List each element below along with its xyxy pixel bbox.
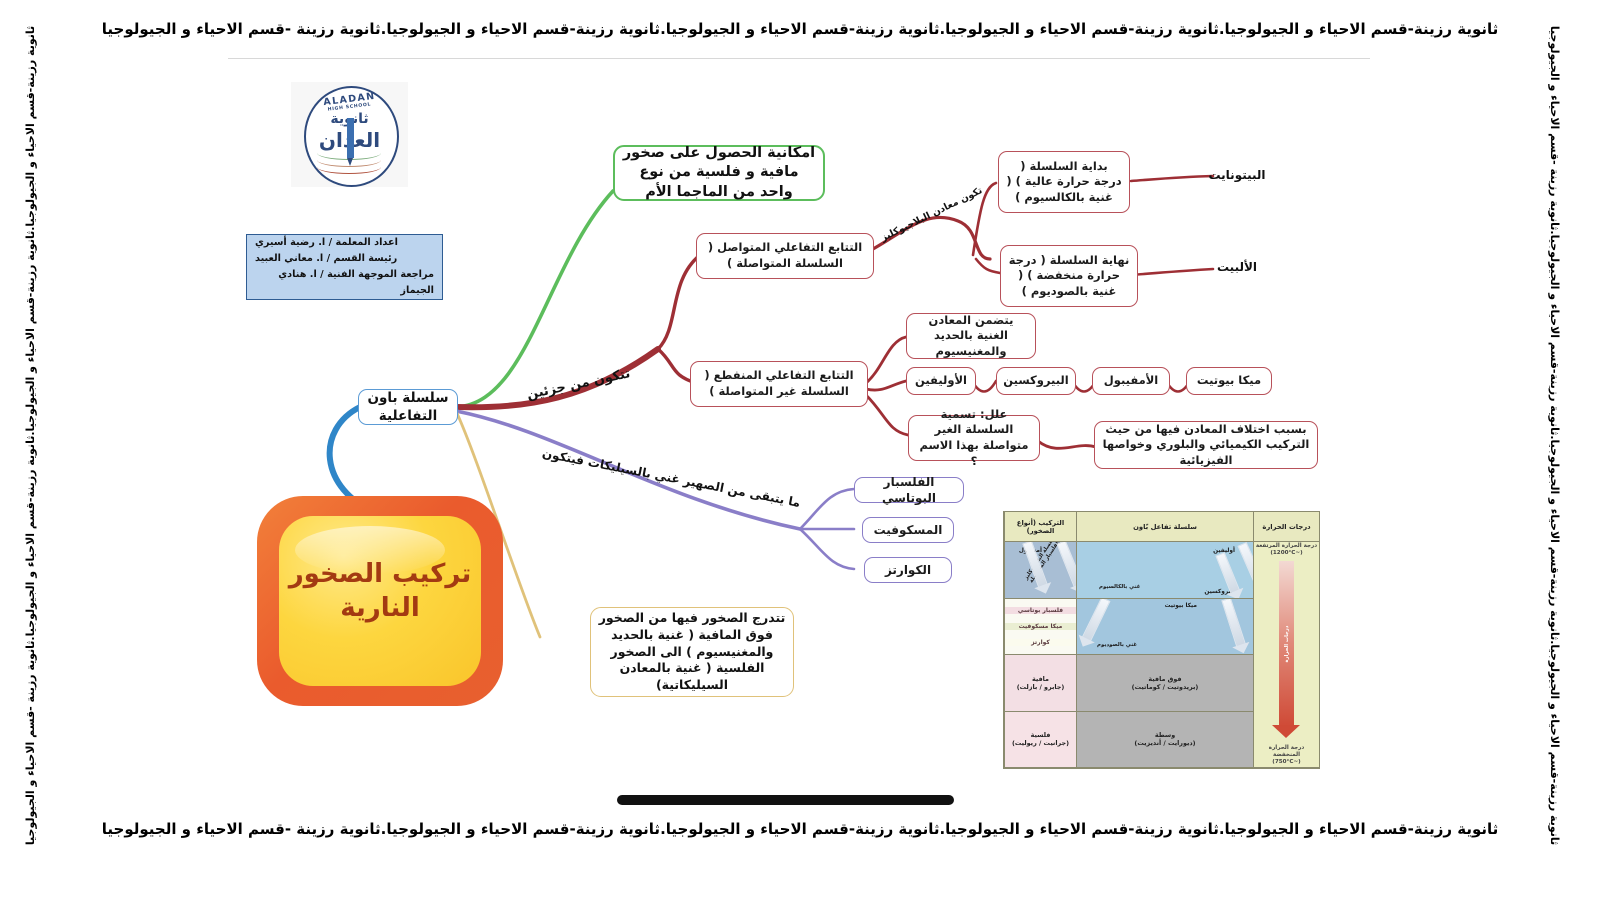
node-discontinuous-series[interactable]: التتابع التفاعلي المنفطع ( السلسلة غير ا… bbox=[690, 361, 868, 407]
node-rock-gradation[interactable]: تتدرج الصخور فيها من الصخور فوق المافية … bbox=[590, 607, 794, 697]
credits-line-2: رئيسة القسم / ا. معاني العبيد bbox=[255, 251, 397, 267]
figure-rock-mafic-name: مافية bbox=[1032, 675, 1049, 683]
mindmap-canvas: ALADAN HIGH SCHOOL ثانوية العدان اعداد ا… bbox=[228, 58, 1370, 819]
figure-diagonal-arrow-1-icon bbox=[1237, 542, 1253, 590]
credits-box: اعداد المعلمة / ا. رضية أسيري رئيسة القس… bbox=[246, 234, 443, 300]
link-to-kfeldspar bbox=[800, 489, 854, 529]
figure-rock-felsic-name: فلسية bbox=[1031, 731, 1051, 739]
node-quartz-label: الكوارتز bbox=[885, 562, 931, 578]
school-logo: ALADAN HIGH SCHOOL ثانوية العدان bbox=[291, 82, 408, 187]
node-muscovite-label: المسكوفيت bbox=[874, 522, 943, 538]
chain-node-amphibole-label: الأمفيبول bbox=[1104, 373, 1158, 389]
node-green-outcome[interactable]: امكانية الحصول على صخور مافية و فلسية من… bbox=[613, 145, 825, 201]
chain-node-pyroxene[interactable]: البيروكسين bbox=[996, 367, 1076, 395]
node-muscovite[interactable]: المسكوفيت bbox=[862, 517, 954, 543]
figure-temp-high: درجة الحرارة المرتفعة (~1200°C) bbox=[1256, 543, 1317, 557]
figure-rock-felsic: فلسية (جرانيت / ريوليت) bbox=[1004, 712, 1076, 769]
node-answer-label: بسبب اختلاف المعادن فيها من حيث التركيب … bbox=[1102, 422, 1310, 469]
figure-diagonal-arrow-3-icon bbox=[1056, 542, 1076, 588]
center-node-bowen-series[interactable]: سلسلة باون التفاعلية bbox=[358, 389, 458, 425]
figure-temp-low: درجة الحرارة المنخفضة (~750°C) bbox=[1255, 745, 1318, 766]
node-discontinuous-series-label: التتابع التفاعلي المنفطع ( السلسلة غير ا… bbox=[698, 368, 860, 399]
watermark-left: ثانوية رزينة-قسم الاحياء و الجيولوجيا.ثا… bbox=[14, 40, 48, 830]
bowen-series-figure[interactable]: درجات الحرارة سلسلة تفاعل بّاون التركيب … bbox=[1003, 511, 1320, 769]
link-to-series-end bbox=[976, 259, 1000, 273]
figure-temperature-arrowhead-icon bbox=[1272, 725, 1300, 738]
node-series-end[interactable]: نهاية السلسلة ( درجة حرارة منخفضة ) ( غن… bbox=[1000, 245, 1138, 307]
figure-temperature-arrow-icon: درجات الحرارة bbox=[1279, 561, 1294, 727]
figure-rock-mafic: مافية (جابرو / بازلت) bbox=[1004, 655, 1076, 712]
node-bytownite-label: البيتونايت bbox=[1208, 167, 1265, 183]
chain-node-biotite-mica-label: ميكا بيوتيت bbox=[1197, 373, 1261, 389]
watermark-top-text: ثانوية رزينة-قسم الاحياء و الجيولوجيا.ثا… bbox=[102, 20, 1499, 38]
figure-series-band-2: أمفيبول سلسلة البلاجيوكليز الفلسبار المت… bbox=[1004, 542, 1076, 599]
figure-temp-high-label: درجة الحرارة المرتفعة bbox=[1256, 543, 1317, 549]
figure-sodium-rich: غني بالصوديوم bbox=[1097, 642, 1137, 648]
logo-pen-icon bbox=[347, 118, 354, 158]
chain-node-olivine-label: الأوليفين bbox=[915, 373, 967, 389]
node-continuous-series[interactable]: التتابع التفاعلي المتواصل ( السلسلة المت… bbox=[696, 233, 874, 279]
figure-series-band-4: فلسبار بوتاسي ميكا مسكوفيت كوارتز bbox=[1004, 599, 1076, 656]
watermark-right-text: ثانوية رزينة-قسم الاحياء و الجيولوجيا.ثا… bbox=[1549, 25, 1562, 844]
main-title-plaque: تركيب الصخور النارية bbox=[257, 496, 503, 706]
figure-rock-felsic-examples: (جرانيت / ريوليت) bbox=[1012, 739, 1069, 747]
node-albite-label: الألبيت bbox=[1217, 259, 1257, 275]
watermark-top: ثانوية رزينة-قسم الاحياء و الجيولوجيا.ثا… bbox=[0, 12, 1600, 46]
link-to-quartz bbox=[800, 529, 854, 569]
figure-temp-high-value: (~1200°C) bbox=[1270, 550, 1302, 556]
figure-calcium-rich: غني بالكالسيوم bbox=[1099, 584, 1141, 590]
link-to-question bbox=[866, 395, 908, 435]
figure-diagonal-arrow-6-icon bbox=[1081, 599, 1110, 643]
node-potassium-feldspar-label: الفلسبار البوتاسي bbox=[862, 474, 956, 506]
node-answer-composition-difference[interactable]: بسبب اختلاف المعادن فيها من حيث التركيب … bbox=[1094, 421, 1318, 469]
figure-temperature-arrow-label: درجات الحرارة bbox=[1284, 626, 1290, 663]
link-to-continuous bbox=[658, 255, 700, 349]
watermark-left-text: ثانوية رزينة-قسم الاحياء و الجيولوجيا.ثا… bbox=[25, 25, 38, 844]
node-green-outcome-label: امكانية الحصول على صخور مافية و فلسية من… bbox=[622, 144, 816, 203]
node-continuous-series-label: التتابع التفاعلي المتواصل ( السلسلة المت… bbox=[704, 240, 866, 271]
logo-pen-tip-icon bbox=[347, 158, 353, 166]
figure-rock-ultramafic: فوق مافية (بريدوتيت / كوماتيت) bbox=[1076, 655, 1253, 712]
plaque-title-line-2: النارية bbox=[257, 592, 503, 626]
credits-line-1: اعداد المعلمة / ا. رضية أسيري bbox=[255, 235, 398, 251]
node-femg-rich-minerals-label: يتضمن المعادن الغنية بالحديد والمغنيسيوم bbox=[914, 313, 1028, 360]
node-potassium-feldspar[interactable]: الفلسبار البوتاسي bbox=[854, 477, 964, 503]
figure-diagonal-arrow-5-icon bbox=[1221, 599, 1246, 648]
plaque-title-line-1: تركيب الصخور bbox=[257, 558, 503, 592]
figure-rock-mafic-examples: (جابرو / بازلت) bbox=[1017, 683, 1065, 691]
node-series-end-label: نهاية السلسلة ( درجة حرارة منخفضة ) ( غن… bbox=[1008, 253, 1130, 300]
link-question-answer bbox=[1038, 441, 1096, 448]
link-to-chain bbox=[866, 381, 906, 390]
credits-line-3: مراجعة الموجهة الفنية / ا. هنادي الجيماز bbox=[255, 267, 434, 299]
node-femg-rich-minerals[interactable]: يتضمن المعادن الغنية بالحديد والمغنيسيوم bbox=[906, 313, 1036, 359]
figure-mineral-kfeldspar: فلسبار بوتاسي bbox=[1004, 607, 1076, 614]
figure-header-series: سلسلة تفاعل بّاون bbox=[1076, 512, 1253, 542]
figure-header-rocks: التركيب (أنواع الصخور) bbox=[1004, 512, 1076, 542]
node-series-start-label: بداية السلسلة ( درجة حرارة عالية ) ( غني… bbox=[1006, 159, 1122, 206]
figure-rock-intermediate: وسطة (ديورايت / أنديزيت) bbox=[1076, 712, 1253, 769]
node-rock-gradation-label: تتدرج الصخور فيها من الصخور فوق المافية … bbox=[598, 610, 786, 694]
figure-rock-intermediate-examples: (ديورايت / أنديزيت) bbox=[1134, 739, 1195, 747]
figure-header-temperature: درجات الحرارة bbox=[1253, 512, 1319, 542]
chain-node-pyroxene-label: البيروكسين bbox=[1003, 373, 1068, 389]
figure-mineral-muscovite: ميكا مسكوفيت bbox=[1004, 623, 1076, 630]
chain-node-olivine[interactable]: الأوليفين bbox=[906, 367, 976, 395]
plaque-title: تركيب الصخور النارية bbox=[257, 558, 503, 626]
watermark-right: ثانوية رزينة-قسم الاحياء و الجيولوجيا.ثا… bbox=[1538, 40, 1572, 830]
link-to-femg bbox=[866, 337, 906, 383]
slide-progress-bar[interactable] bbox=[617, 795, 954, 805]
figure-series-band-3: ميكا بيوتيت غني بالصوديوم bbox=[1076, 599, 1253, 656]
chain-node-biotite-mica[interactable]: ميكا بيوتيت bbox=[1186, 367, 1272, 395]
node-bytownite[interactable]: البيتونايت bbox=[1196, 163, 1278, 187]
center-node-label: سلسلة باون التفاعلية bbox=[366, 389, 450, 425]
figure-temperature-axis: درجة الحرارة المرتفعة (~1200°C) درجات ال… bbox=[1253, 542, 1319, 768]
figure-mineral-quartz: كوارتز bbox=[1004, 639, 1076, 646]
figure-temp-low-label: درجة الحرارة المنخفضة bbox=[1269, 745, 1304, 758]
figure-rock-ultramafic-examples: (بريدوتيت / كوماتيت) bbox=[1132, 683, 1199, 691]
figure-mineral-biotite: ميكا بيوتيت bbox=[1165, 603, 1197, 609]
node-albite[interactable]: الألبيت bbox=[1196, 255, 1278, 279]
node-question-label: علل: تسمية السلسلة الغير متواصلة بهذا ال… bbox=[916, 407, 1032, 469]
node-question-why-discontinuous[interactable]: علل: تسمية السلسلة الغير متواصلة بهذا ال… bbox=[908, 415, 1040, 461]
node-series-start[interactable]: بداية السلسلة ( درجة حرارة عالية ) ( غني… bbox=[998, 151, 1130, 213]
watermark-bottom-text: ثانوية رزينة-قسم الاحياء و الجيولوجيا.ثا… bbox=[102, 820, 1499, 838]
figure-temp-low-value: (~750°C) bbox=[1272, 759, 1300, 765]
figure-rock-ultramafic-name: فوق مافية bbox=[1148, 675, 1181, 683]
figure-series-band-1: أوليفين بيروكسين غني بالكالسيوم bbox=[1076, 542, 1253, 599]
chain-node-amphibole[interactable]: الأمفيبول bbox=[1092, 367, 1170, 395]
node-quartz[interactable]: الكوارتز bbox=[864, 557, 952, 583]
